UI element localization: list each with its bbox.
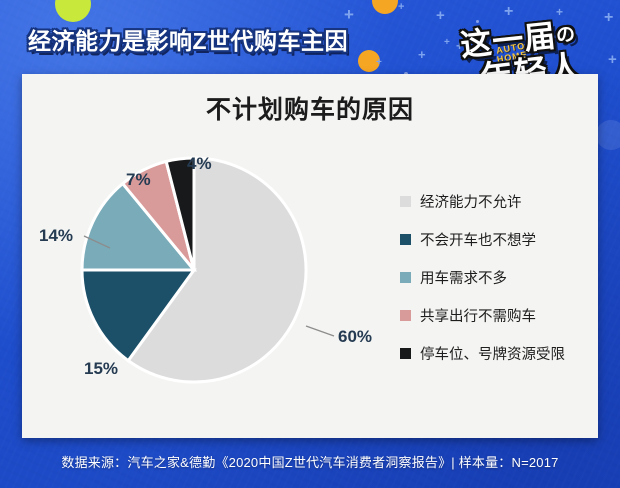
legend-item[interactable]: 用车需求不多: [400, 258, 590, 296]
pie-label-14: 14%: [39, 226, 73, 246]
pie-label-4: 4%: [187, 154, 212, 174]
chart-title: 不计划购车的原因: [22, 90, 598, 126]
legend-item[interactable]: 停车位、号牌资源受限: [400, 334, 590, 372]
legend-label: 停车位、号牌资源受限: [420, 343, 565, 364]
infographic-root: + + + + + + + + + + + + 经济能力是影响Z世代购车主因 这…: [0, 0, 620, 488]
pie-chart: [70, 146, 318, 394]
legend-label: 共享出行不需购车: [420, 305, 536, 326]
decor-plus-icon: +: [398, 2, 404, 13]
legend-item[interactable]: 不会开车也不想学: [400, 220, 590, 258]
legend-swatch-icon: [400, 234, 411, 245]
legend-swatch-icon: [400, 310, 411, 321]
pie-label-15: 15%: [84, 359, 118, 379]
source-note: 数据来源：汽车之家&德勤《2020中国Z世代汽车消费者洞察报告》| 样本量：N=…: [0, 452, 620, 471]
legend-label: 不会开车也不想学: [420, 229, 536, 250]
pie-chart-svg: [70, 146, 318, 394]
legend-swatch-icon: [400, 196, 411, 207]
legend-swatch-icon: [400, 272, 411, 283]
legend-item[interactable]: 经济能力不允许: [400, 182, 590, 220]
pie-label-7: 7%: [126, 170, 151, 190]
page-title: 经济能力是影响Z世代购车主因: [28, 22, 348, 56]
decor-plus-icon: +: [376, 58, 382, 68]
legend-item[interactable]: 共享出行不需购车: [400, 296, 590, 334]
content-panel: 不计划购车的原因 60% 15% 14%: [22, 74, 598, 438]
pie-label-60: 60%: [338, 327, 372, 347]
legend-label: 用车需求不多: [420, 267, 507, 288]
chart-legend: 经济能力不允许 不会开车也不想学 用车需求不多 共享出行不需购车 停车位、号牌资…: [400, 182, 590, 372]
legend-swatch-icon: [400, 348, 411, 359]
decor-plus-icon: +: [418, 48, 426, 61]
decor-plus-icon: +: [344, 6, 354, 23]
decor-circle-blue-faint: [596, 120, 620, 150]
legend-label: 经济能力不允许: [420, 191, 522, 212]
